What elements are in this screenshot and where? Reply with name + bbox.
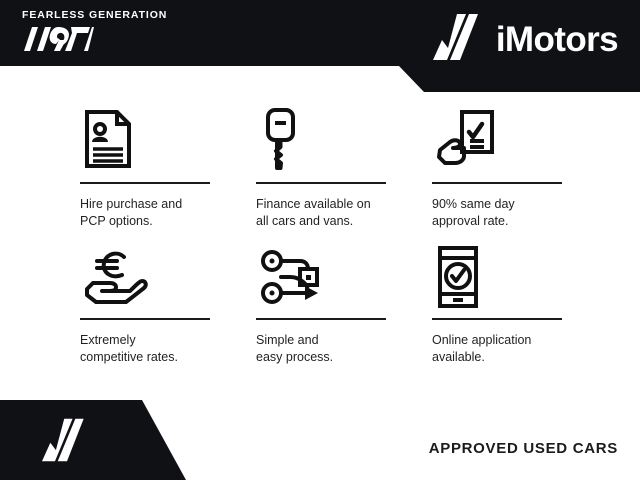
imotors-chevron-logo-icon (42, 418, 92, 467)
feature-divider (256, 182, 386, 184)
feature-item: Simple and easy process. (256, 244, 430, 366)
feature-divider (80, 182, 210, 184)
brand-name: iMotors (496, 22, 618, 57)
feature-label: Extremely competitive rates. (80, 332, 254, 366)
feature-row: Hire purchase and PCP options. Finance a… (0, 104, 640, 230)
footer-background-shape (0, 400, 200, 480)
feature-divider (432, 318, 562, 320)
header-brand-group: iMotors (433, 14, 618, 65)
feature-label: Online application available. (432, 332, 612, 366)
banner-footer: APPROVED USED CARS (0, 400, 640, 480)
feature-row: Extremely competitive rates. (0, 244, 640, 366)
feature-divider (432, 182, 562, 184)
hand-checklist-icon (432, 104, 612, 174)
imotors-chevron-logo-icon (433, 14, 487, 65)
header-tagline: FEARLESS GENERATION (22, 10, 167, 21)
feature-item: Finance available on all cars and vans. (256, 104, 430, 230)
feature-label: 90% same day approval rate. (432, 196, 612, 230)
feature-divider (256, 318, 386, 320)
feature-divider (80, 318, 210, 320)
feature-label: Hire purchase and PCP options. (80, 196, 254, 230)
feature-grid: Hire purchase and PCP options. Finance a… (0, 104, 640, 366)
year-1971-wordmark-icon (22, 24, 94, 54)
feature-label: Finance available on all cars and vans. (256, 196, 430, 230)
banner-header: FEARLESS GENERATION (0, 0, 640, 92)
feature-item: 90% same day approval rate. (432, 104, 612, 230)
footer-tagline: APPROVED USED CARS (429, 440, 618, 457)
feature-item: Online application available. (432, 244, 612, 366)
feature-item: Hire purchase and PCP options. (80, 104, 254, 230)
process-flow-icon (256, 244, 430, 310)
car-key-icon (256, 104, 430, 174)
mobile-check-icon (432, 244, 612, 310)
hand-euro-icon (80, 244, 254, 310)
promotional-banner: FEARLESS GENERATION (0, 0, 640, 480)
feature-item: Extremely competitive rates. (80, 244, 254, 366)
header-left-group: FEARLESS GENERATION (22, 10, 167, 54)
document-person-icon (80, 104, 254, 174)
feature-label: Simple and easy process. (256, 332, 430, 366)
